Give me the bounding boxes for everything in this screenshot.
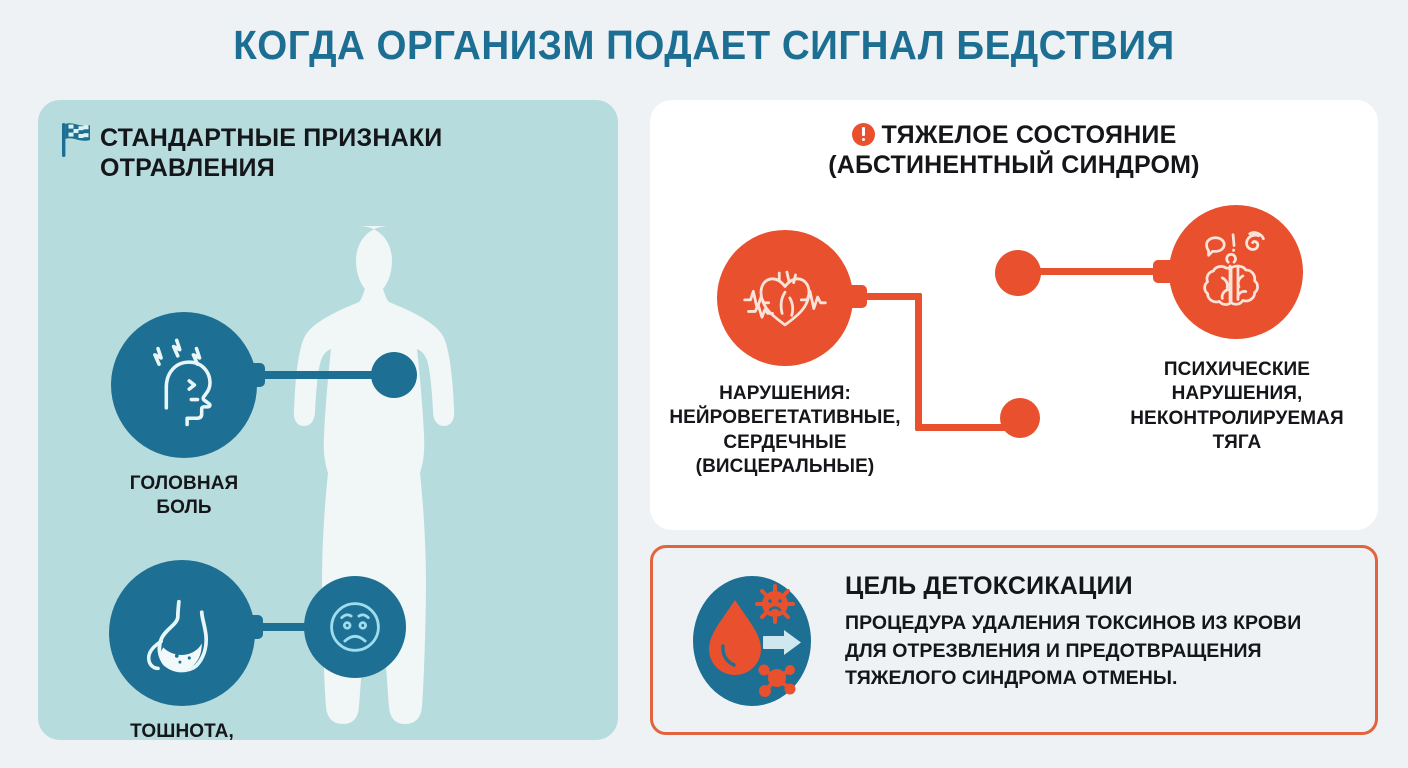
brain-thoughts-icon: [1187, 223, 1285, 321]
body-marker-head-right: [995, 250, 1041, 296]
label-cardio-line2: НЕЙРОВЕГЕТАТИВНЫЕ,: [669, 407, 900, 428]
sad-face-icon: [316, 588, 394, 666]
label-mental-line4: ТЯГА: [1213, 432, 1262, 453]
label-mental: ПСИХИЧЕСКИЕ НАРУШЕНИЯ, НЕКОНТРОЛИРУЕМАЯ …: [1108, 358, 1366, 455]
icon-circle-cardio: [717, 230, 853, 366]
checkered-flag-icon: [60, 120, 94, 158]
exclamation-circle-icon: [852, 123, 875, 146]
detox-body: ПРОЦЕДУРА УДАЛЕНИЯ ТОКСИНОВ ИЗ КРОВИ ДЛЯ…: [845, 610, 1355, 693]
panel-right-heading-line2: (АБСТИНЕНТНЫЙ СИНДРОМ): [650, 150, 1378, 180]
label-cardio-line1: НАРУШЕНИЯ:: [719, 383, 851, 404]
label-mental-line2: НАРУШЕНИЯ,: [1172, 383, 1303, 404]
connector-cardio-horizontal-bottom: [915, 424, 1015, 431]
panel-left-heading-line2: ОТРАВЛЕНИЯ: [100, 154, 275, 182]
panel-left-heading-line1: СТАНДАРТНЫЕ ПРИЗНАКИ: [100, 124, 442, 152]
label-headache-line1: ГОЛОВНАЯ: [130, 473, 239, 494]
icon-circle-nausea: [109, 560, 255, 706]
page-title: КОГДА ОРГАНИЗМ ПОДАЕТ СИГНАЛ БЕДСТВИЯ: [42, 22, 1366, 69]
panel-right-heading-line1-wrap: ТЯЖЕЛОЕ СОСТОЯНИЕ: [650, 120, 1378, 150]
label-cardio-line3: СЕРДЕЧНЫЕ: [723, 432, 846, 453]
label-nausea: ТОШНОТА, РВОТА: [77, 720, 287, 740]
infographic-root: КОГДА ОРГАНИЗМ ПОДАЕТ СИГНАЛ БЕДСТВИЯ СТ…: [0, 0, 1408, 768]
panel-standard-signs: СТАНДАРТНЫЕ ПРИЗНАКИ ОТРАВЛЕНИЯ: [38, 100, 618, 740]
label-cardio: НАРУШЕНИЯ: НЕЙРОВЕГЕТАТИВНЫЕ, СЕРДЕЧНЫЕ …: [650, 382, 920, 479]
detox-body-line2: ДЛЯ ОТРЕЗВЛЕНИЯ И ПРЕДОТВРАЩЕНИЯ: [845, 638, 1355, 666]
blood-drop-detox-icon: [691, 574, 813, 708]
icon-circle-mental: [1169, 205, 1303, 339]
label-mental-line1: ПСИХИЧЕСКИЕ: [1164, 359, 1310, 380]
body-marker-chest-right: [1000, 398, 1040, 438]
label-mental-line3: НЕКОНТРОЛИРУЕМАЯ: [1130, 408, 1344, 429]
headache-head-lightning-icon: [132, 333, 236, 437]
body-marker-sad-face: [304, 576, 406, 678]
label-headache: ГОЛОВНАЯ БОЛЬ: [79, 472, 289, 521]
stomach-icon: [130, 581, 234, 685]
detox-body-line1: ПРОЦЕДУРА УДАЛЕНИЯ ТОКСИНОВ ИЗ КРОВИ: [845, 610, 1355, 638]
panel-severe-condition: ТЯЖЕЛОЕ СОСТОЯНИЕ (АБСТИНЕНТНЫЙ СИНДРОМ): [650, 100, 1378, 530]
label-cardio-line4: (ВИСЦЕРАЛЬНЫЕ): [696, 456, 875, 477]
panel-detox-goal: ЦЕЛЬ ДЕТОКСИКАЦИИ ПРОЦЕДУРА УДАЛЕНИЯ ТОК…: [650, 545, 1378, 735]
detox-title: ЦЕЛЬ ДЕТОКСИКАЦИИ: [845, 572, 1133, 601]
label-nausea-line1: ТОШНОТА,: [130, 721, 234, 740]
panel-right-heading-line1: ТЯЖЕЛОЕ СОСТОЯНИЕ: [882, 121, 1177, 149]
label-headache-line2: БОЛЬ: [156, 497, 211, 518]
icon-circle-headache: [111, 312, 257, 458]
panel-right-heading: ТЯЖЕЛОЕ СОСТОЯНИЕ (АБСТИНЕНТНЫЙ СИНДРОМ): [650, 120, 1378, 180]
connector-headache: [254, 371, 378, 379]
detox-body-line3: ТЯЖЕЛОГО СИНДРОМА ОТМЕНЫ.: [845, 665, 1355, 693]
panel-left-heading: СТАНДАРТНЫЕ ПРИЗНАКИ ОТРАВЛЕНИЯ: [100, 124, 580, 183]
heart-ecg-icon: [737, 250, 833, 346]
connector-mental: [1038, 268, 1163, 275]
